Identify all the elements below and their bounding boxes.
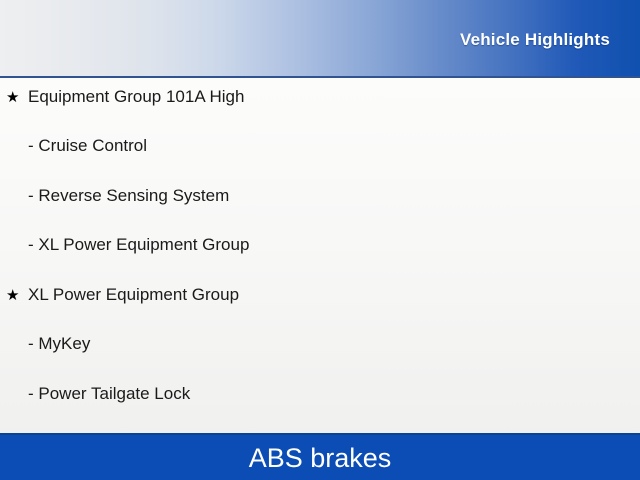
- list-item: - Cruise Control: [0, 131, 640, 161]
- list-item-label: - Cruise Control: [28, 136, 147, 156]
- header-banner: Vehicle Highlights: [0, 0, 640, 78]
- list-item: ★Equipment Group 101A High: [0, 82, 640, 112]
- list-item-label: - MyKey: [28, 334, 90, 354]
- star-bullet-icon: ★: [6, 288, 24, 303]
- list-item-label: Equipment Group 101A High: [28, 87, 244, 107]
- list-item-label: - Reverse Sensing System: [28, 186, 229, 206]
- list-item-label: XL Power Equipment Group: [28, 285, 239, 305]
- star-bullet-icon: ★: [6, 90, 24, 105]
- vehicle-highlights-slide: Vehicle Highlights ★Equipment Group 101A…: [0, 0, 640, 480]
- list-item-label: - XL Power Equipment Group: [28, 235, 249, 255]
- footer-bar: ABS brakes: [0, 433, 640, 480]
- footer-title: ABS brakes: [249, 443, 392, 473]
- list-item-label: - Power Tailgate Lock: [28, 384, 190, 404]
- list-item: ★XL Power Equipment Group: [0, 280, 640, 310]
- list-item: - MyKey: [0, 329, 640, 359]
- list-item: - Reverse Sensing System: [0, 181, 640, 211]
- list-item: - XL Power Equipment Group: [0, 230, 640, 260]
- page-title: Vehicle Highlights: [460, 30, 610, 50]
- feature-list: ★Equipment Group 101A High- Cruise Contr…: [0, 80, 640, 433]
- list-item: - Power Tailgate Lock: [0, 379, 640, 409]
